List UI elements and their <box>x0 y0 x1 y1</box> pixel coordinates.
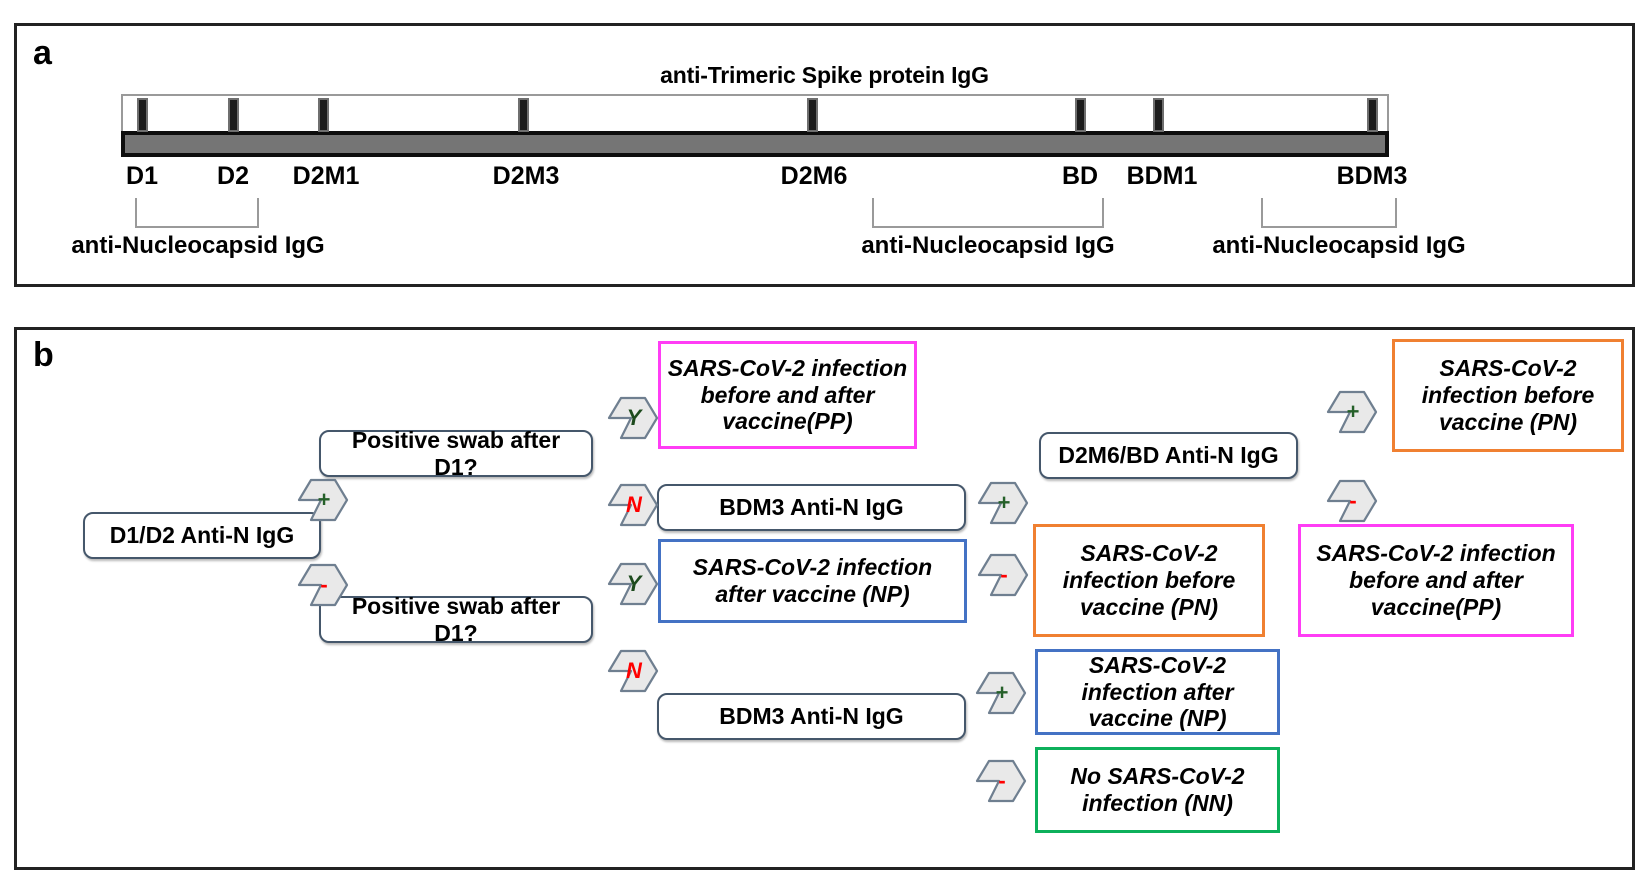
nucleocapsid-label-2: anti-Nucleocapsid IgG <box>861 232 1114 260</box>
outcome-np-middle: SARS-CoV-2 infection after vaccine (NP) <box>658 539 967 623</box>
panel-a: a anti-Trimeric Spike protein IgG D1 D2 … <box>14 23 1635 287</box>
outcome-pn-middle: SARS-CoV-2 infection before vaccine (PN) <box>1033 524 1265 637</box>
timepoint-label-d2m3: D2M3 <box>493 162 560 191</box>
nucleocapsid-brace <box>872 198 1104 228</box>
timepoint-label-bdm3: BDM3 <box>1337 162 1408 191</box>
timepoint-tick <box>1367 98 1378 132</box>
timepoint-label-d2m6: D2M6 <box>781 162 848 191</box>
timepoint-tick <box>807 98 818 132</box>
figure-root: a anti-Trimeric Spike protein IgG D1 D2 … <box>0 0 1649 894</box>
outcome-pn-top: SARS-CoV-2 infection before vaccine (PN) <box>1392 339 1624 452</box>
timepoint-tick <box>318 98 329 132</box>
arrow-minus-bdm3-bottom: - <box>973 752 1031 810</box>
timepoint-label-bdm1: BDM1 <box>1127 162 1198 191</box>
arrow-plus-bdm3-bottom: + <box>973 664 1031 722</box>
timepoint-tick <box>1153 98 1164 132</box>
nucleocapsid-label-3: anti-Nucleocapsid IgG <box>1212 232 1465 260</box>
arrow-minus-bdm3-top: - <box>975 546 1033 604</box>
nucleocapsid-brace <box>1261 198 1397 228</box>
arrow-no-swab-bottom: N <box>605 642 663 700</box>
arrow-plus-d2m6-bd: + <box>1324 383 1382 441</box>
arrow-minus-root: - <box>295 556 353 614</box>
arrow-no-swab-top: N <box>605 476 663 534</box>
arrow-minus-d2m6-bd: - <box>1324 472 1382 530</box>
timepoint-tick <box>1075 98 1086 132</box>
timepoint-tick <box>137 98 148 132</box>
node-positive-swab-after-d1-top[interactable]: Positive swab after D1? <box>319 430 593 477</box>
node-positive-swab-after-d1-bottom[interactable]: Positive swab after D1? <box>319 596 593 643</box>
outcome-np-bottom: SARS-CoV-2 infection after vaccine (NP) <box>1035 649 1280 735</box>
timeline-bar <box>121 131 1389 157</box>
node-d1-d2-anti-n-igg[interactable]: D1/D2 Anti-N IgG <box>83 512 321 559</box>
outcome-nn: No SARS-CoV-2 infection (NN) <box>1035 747 1280 833</box>
node-bdm3-anti-n-igg-bottom[interactable]: BDM3 Anti-N IgG <box>657 693 966 740</box>
outcome-pp-top: SARS-CoV-2 infection before and after va… <box>658 341 917 449</box>
panel-b: b D1/D2 Anti-N IgG Positive swab after D… <box>14 327 1635 870</box>
timepoint-label-bd: BD <box>1062 162 1098 191</box>
nucleocapsid-label-1: anti-Nucleocapsid IgG <box>71 232 324 260</box>
node-d2m6-bd-anti-n-igg[interactable]: D2M6/BD Anti-N IgG <box>1039 432 1298 479</box>
timepoint-tick <box>228 98 239 132</box>
arrow-yes-swab-bottom: Y <box>605 555 663 613</box>
anti-trimeric-spike-label: anti-Trimeric Spike protein IgG <box>17 62 1632 89</box>
arrow-plus-root: + <box>295 471 353 529</box>
panel-b-letter: b <box>33 338 54 372</box>
timepoint-label-d2m1: D2M1 <box>293 162 360 191</box>
timepoint-label-d2: D2 <box>217 162 249 191</box>
timepoint-tick <box>518 98 529 132</box>
node-bdm3-anti-n-igg-top[interactable]: BDM3 Anti-N IgG <box>657 484 966 531</box>
arrow-plus-bdm3-top: + <box>975 474 1033 532</box>
arrow-yes-swab-top: Y <box>605 389 663 447</box>
nucleocapsid-brace <box>135 198 259 228</box>
outcome-pp-right: SARS-CoV-2 infection before and after va… <box>1298 524 1574 637</box>
timepoint-label-d1: D1 <box>126 162 158 191</box>
